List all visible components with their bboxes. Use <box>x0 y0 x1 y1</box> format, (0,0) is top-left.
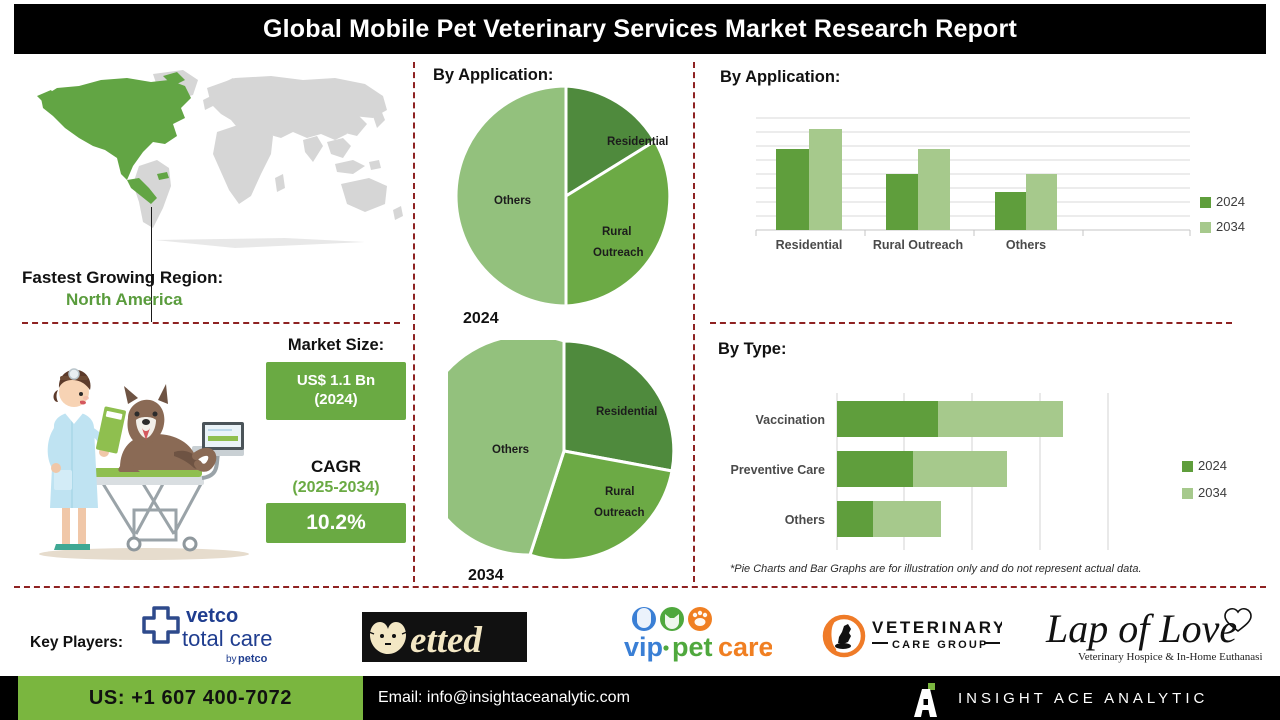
fastest-growing-region-label: Fastest Growing Region: <box>22 268 223 288</box>
chart-disclaimer-note: *Pie Charts and Bar Graphs are for illus… <box>730 563 1142 575</box>
footer-phone-text: US: +1 607 400-7072 <box>89 687 292 710</box>
svg-text:VETERINARY: VETERINARY <box>872 618 1002 637</box>
pie-chart-2034: Residential Rural Outreach Others <box>448 340 680 562</box>
key-players-label: Key Players: <box>30 634 123 652</box>
svg-text:by: by <box>226 654 237 665</box>
logo-vip-petcare: vip pet care <box>622 606 772 662</box>
pie-slice-label-rural-1: Rural <box>605 486 634 498</box>
svg-text:Veterinary Hospice & In-Home E: Veterinary Hospice & In-Home Euthanasia <box>1078 651 1262 663</box>
svg-text:total care: total care <box>182 626 273 651</box>
insightace-logo-icon <box>912 683 940 713</box>
pie-year-2024: 2024 <box>463 310 499 328</box>
divider-horizontal-left <box>22 322 400 324</box>
footer-phone-block: US: +1 607 400-7072 <box>18 676 363 720</box>
logo-vetted: etted <box>362 612 527 662</box>
market-size-box: US$ 1.1 Bn (2024) <box>266 362 406 420</box>
vbar-legend-swatch-2024 <box>1200 197 1211 208</box>
vbar-cat-residential: Residential <box>776 238 843 252</box>
hbar-chart: Vaccination Preventive Care Others <box>712 385 1182 560</box>
svg-text:Lap of Love: Lap of Love <box>1045 606 1237 651</box>
vbar-cat-others: Others <box>1006 238 1046 252</box>
cagr-value-box: 10.2% <box>266 503 406 543</box>
svg-text:vetco: vetco <box>186 605 238 627</box>
vbar-chart: Residential Rural Outreach Others <box>752 112 1202 257</box>
svg-text:vip: vip <box>624 632 663 662</box>
brand-block: INSIGHT ACE ANALYTIC <box>912 676 1208 720</box>
hbar-legend-swatch-2034 <box>1182 488 1193 499</box>
pie-slice-label-others: Others <box>492 444 529 456</box>
world-map <box>35 62 405 252</box>
vbar-cat-rural-outreach: Rural Outreach <box>873 238 963 252</box>
svg-text:care: care <box>718 632 772 662</box>
divider-vertical-right <box>693 62 695 582</box>
hbar-legend-swatch-2024 <box>1182 461 1193 472</box>
hbar-cat-preventive-care: Preventive Care <box>730 463 825 477</box>
pie-slice-label-rural-1: Rural <box>602 226 631 238</box>
cagr-years: (2025-2034) <box>266 479 406 497</box>
market-size-title: Market Size: <box>266 336 406 355</box>
market-size-value: US$ 1.1 Bn <box>270 372 402 391</box>
vbar-title: By Application: <box>720 68 840 87</box>
svg-text:CARE GROUP: CARE GROUP <box>892 639 989 651</box>
pie-slice-label-residential: Residential <box>607 136 668 148</box>
infographic-page: Global Mobile Pet Veterinary Services Ma… <box>0 0 1280 720</box>
hbar-legend-label-2034: 2034 <box>1198 485 1227 500</box>
divider-horizontal-bottom <box>14 586 1266 588</box>
divider-horizontal-right <box>710 322 1232 324</box>
hbar-cat-others: Others <box>785 513 825 527</box>
pie-slice-label-residential: Residential <box>596 406 657 418</box>
vbar-legend-label-2034: 2034 <box>1216 219 1245 234</box>
pie-chart-2024: Residential Rural Outreach Others <box>450 85 682 307</box>
pie-slice-label-others: Others <box>494 195 531 207</box>
logo-lap-of-love: Lap of Love Veterinary Hospice & In-Home… <box>1040 602 1262 664</box>
market-stats: Market Size: US$ 1.1 Bn (2024) CAGR (202… <box>266 336 406 543</box>
veterinarian-illustration <box>24 358 264 573</box>
footer-email: Email: info@insightaceanalytic.com <box>378 676 630 720</box>
svg-text:etted: etted <box>410 620 482 661</box>
svg-text:pet: pet <box>672 632 713 662</box>
logo-veterinary-care-group: VETERINARY CARE GROUP <box>822 612 1002 660</box>
pie-slice-label-rural-2: Outreach <box>593 247 644 259</box>
vbar-legend-label-2024: 2024 <box>1216 194 1245 209</box>
pie-year-2034: 2034 <box>468 567 504 585</box>
cagr-title: CAGR <box>266 457 406 477</box>
vbar-legend-swatch-2034 <box>1200 222 1211 233</box>
brand-name: INSIGHT ACE ANALYTIC <box>958 690 1208 707</box>
pie-slice-label-rural-2: Outreach <box>594 507 645 519</box>
market-size-year: (2024) <box>270 391 402 410</box>
svg-text:petco: petco <box>238 653 268 665</box>
header-bar: Global Mobile Pet Veterinary Services Ma… <box>14 4 1266 54</box>
hbar-cat-vaccination: Vaccination <box>756 413 825 427</box>
hbar-legend-label-2024: 2024 <box>1198 458 1227 473</box>
hbar-title: By Type: <box>718 340 786 359</box>
fastest-growing-region-value: North America <box>66 290 183 310</box>
pie-section-title-2024: By Application: <box>433 66 553 85</box>
logo-vetco-total-care: vetco total care by petco <box>138 600 290 668</box>
page-title: Global Mobile Pet Veterinary Services Ma… <box>263 15 1017 44</box>
divider-vertical-left <box>413 62 415 582</box>
